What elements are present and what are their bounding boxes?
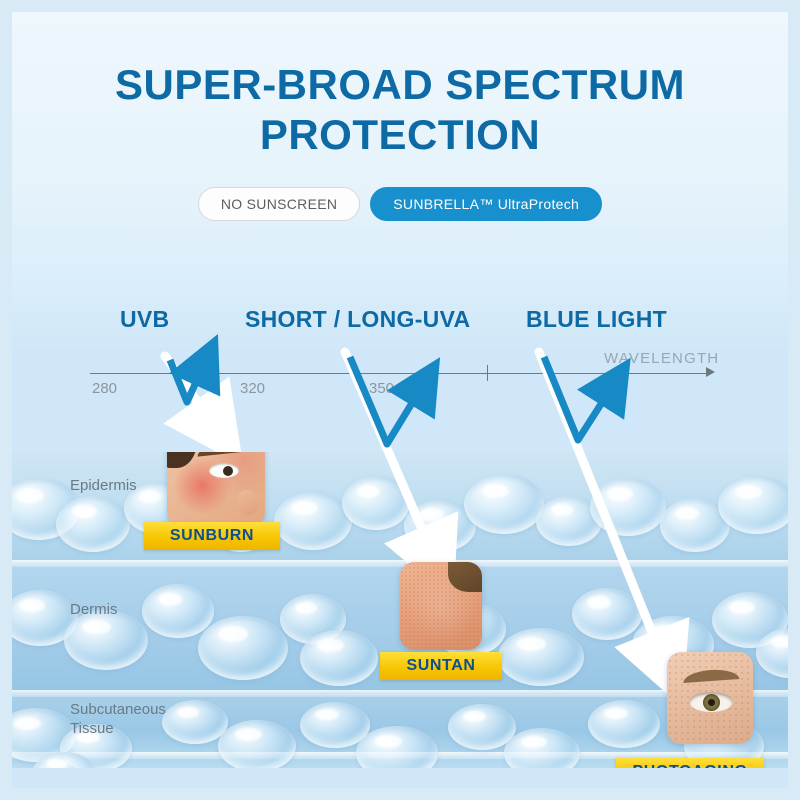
skin-cross-section: Epidermis Dermis Subcutaneous Tissue xyxy=(12,452,788,768)
layer-label-dermis: Dermis xyxy=(70,600,118,619)
content-frame: SUPER-BROAD SPECTRUM PROTECTION NO SUNSC… xyxy=(12,12,788,788)
band-label-uvb: UVB xyxy=(120,306,169,333)
bubble xyxy=(198,616,288,680)
axis-value-450: 450 xyxy=(592,380,617,397)
ray-uva-deflected xyxy=(350,357,420,444)
band-label-blue-light: BLUE LIGHT xyxy=(526,306,667,333)
ray-uvb-deflected xyxy=(170,360,202,402)
bubble xyxy=(588,700,660,748)
bubble xyxy=(718,476,788,534)
ray-blue-light-deflected xyxy=(544,357,610,440)
bubble xyxy=(64,610,148,670)
pupil-shape xyxy=(223,466,233,476)
wavelength-axis-arrow-icon xyxy=(706,367,715,377)
ray-uvb-incoming xyxy=(165,356,212,422)
photo-sunburn-face xyxy=(167,452,265,526)
bubble xyxy=(464,474,544,534)
toggle-no-sunscreen[interactable]: NO SUNSCREEN xyxy=(198,187,360,221)
hair-shape xyxy=(167,452,197,468)
axis-value-280: 280 xyxy=(92,380,117,397)
toggle-sunbrella-ultraprotech[interactable]: SUNBRELLA™ UltraProtech xyxy=(370,187,602,221)
badge-photoaging: PHOTOAGING xyxy=(616,758,764,768)
axis-tick-400 xyxy=(487,365,488,381)
layer-label-subcutaneous: Subcutaneous Tissue xyxy=(70,700,180,738)
bubble xyxy=(590,478,666,536)
bubble xyxy=(300,630,378,686)
nose-shape xyxy=(237,490,259,516)
layer-label-epidermis: Epidermis xyxy=(70,476,137,495)
badge-suntan: SUNTAN xyxy=(380,652,502,680)
title-line-2: PROTECTION xyxy=(12,110,788,160)
axis-title-wavelength: WAVELENGTH xyxy=(604,350,719,367)
bubble xyxy=(56,496,130,552)
badge-sunburn: SUNBURN xyxy=(144,522,280,550)
axis-value-350: 350 xyxy=(369,380,394,397)
page-title: SUPER-BROAD SPECTRUM PROTECTION xyxy=(12,60,788,160)
axis-tick-320 xyxy=(217,365,218,381)
title-line-1: SUPER-BROAD SPECTRUM xyxy=(12,60,788,110)
bubble xyxy=(572,588,642,640)
pupil-shape xyxy=(708,699,715,706)
bubble xyxy=(342,476,410,530)
bubble xyxy=(498,628,584,686)
axis-value-320: 320 xyxy=(240,380,265,397)
band-label-uva: SHORT / LONG-UVA xyxy=(245,306,470,333)
bubble xyxy=(218,720,296,768)
eyebrow-shape xyxy=(197,452,248,457)
photo-suntan-skin xyxy=(400,562,482,650)
bubble xyxy=(274,492,352,550)
photo-photoaging-eye xyxy=(667,652,753,744)
mode-toggle-group: NO SUNSCREEN SUNBRELLA™ UltraProtech xyxy=(12,187,788,221)
wavelength-axis-line xyxy=(90,373,712,374)
bubble xyxy=(142,584,214,638)
infographic-canvas: SUPER-BROAD SPECTRUM PROTECTION NO SUNSC… xyxy=(0,0,800,800)
